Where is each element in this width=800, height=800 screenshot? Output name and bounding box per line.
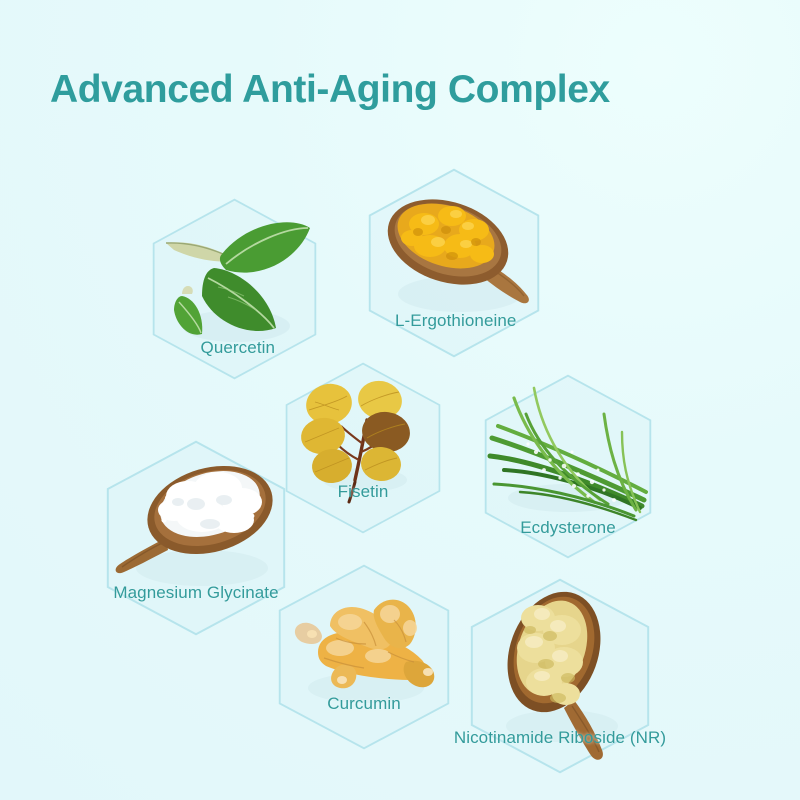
ingredient-label-curcumin: Curcumin bbox=[327, 694, 401, 714]
hexagon-frame-icon bbox=[278, 564, 450, 750]
page-title: Advanced Anti-Aging Complex bbox=[50, 68, 610, 112]
ingredient-card-fisetin[interactable]: Fisetin bbox=[285, 362, 441, 534]
ingredient-label-ergothioneine: L-Ergothioneine bbox=[395, 311, 517, 331]
ingredient-card-quercetin[interactable]: Quercetin bbox=[152, 198, 317, 380]
ingredient-label-nicotinamide: Nicotinamide Riboside (NR) bbox=[454, 728, 666, 748]
hexagon-frame-icon bbox=[285, 362, 441, 534]
ingredient-card-magnesium[interactable]: Magnesium Glycinate bbox=[106, 440, 286, 636]
ingredient-label-ecdysterone: Ecdysterone bbox=[520, 518, 616, 538]
ingredient-card-curcumin[interactable]: Curcumin bbox=[278, 564, 450, 750]
ingredient-card-nicotinamide[interactable]: Nicotinamide Riboside (NR) bbox=[470, 578, 650, 774]
poster-canvas: Advanced Anti-Aging Complex Quercetin bbox=[0, 0, 800, 800]
ingredient-label-fisetin: Fisetin bbox=[338, 482, 389, 502]
ingredient-label-quercetin: Quercetin bbox=[200, 338, 275, 358]
hexagon-frame-icon bbox=[106, 440, 286, 636]
ingredient-card-ergothioneine[interactable]: L-Ergothioneine bbox=[368, 168, 540, 358]
ingredient-label-magnesium: Magnesium Glycinate bbox=[113, 583, 278, 603]
ingredient-card-ecdysterone[interactable]: Ecdysterone bbox=[484, 374, 652, 559]
